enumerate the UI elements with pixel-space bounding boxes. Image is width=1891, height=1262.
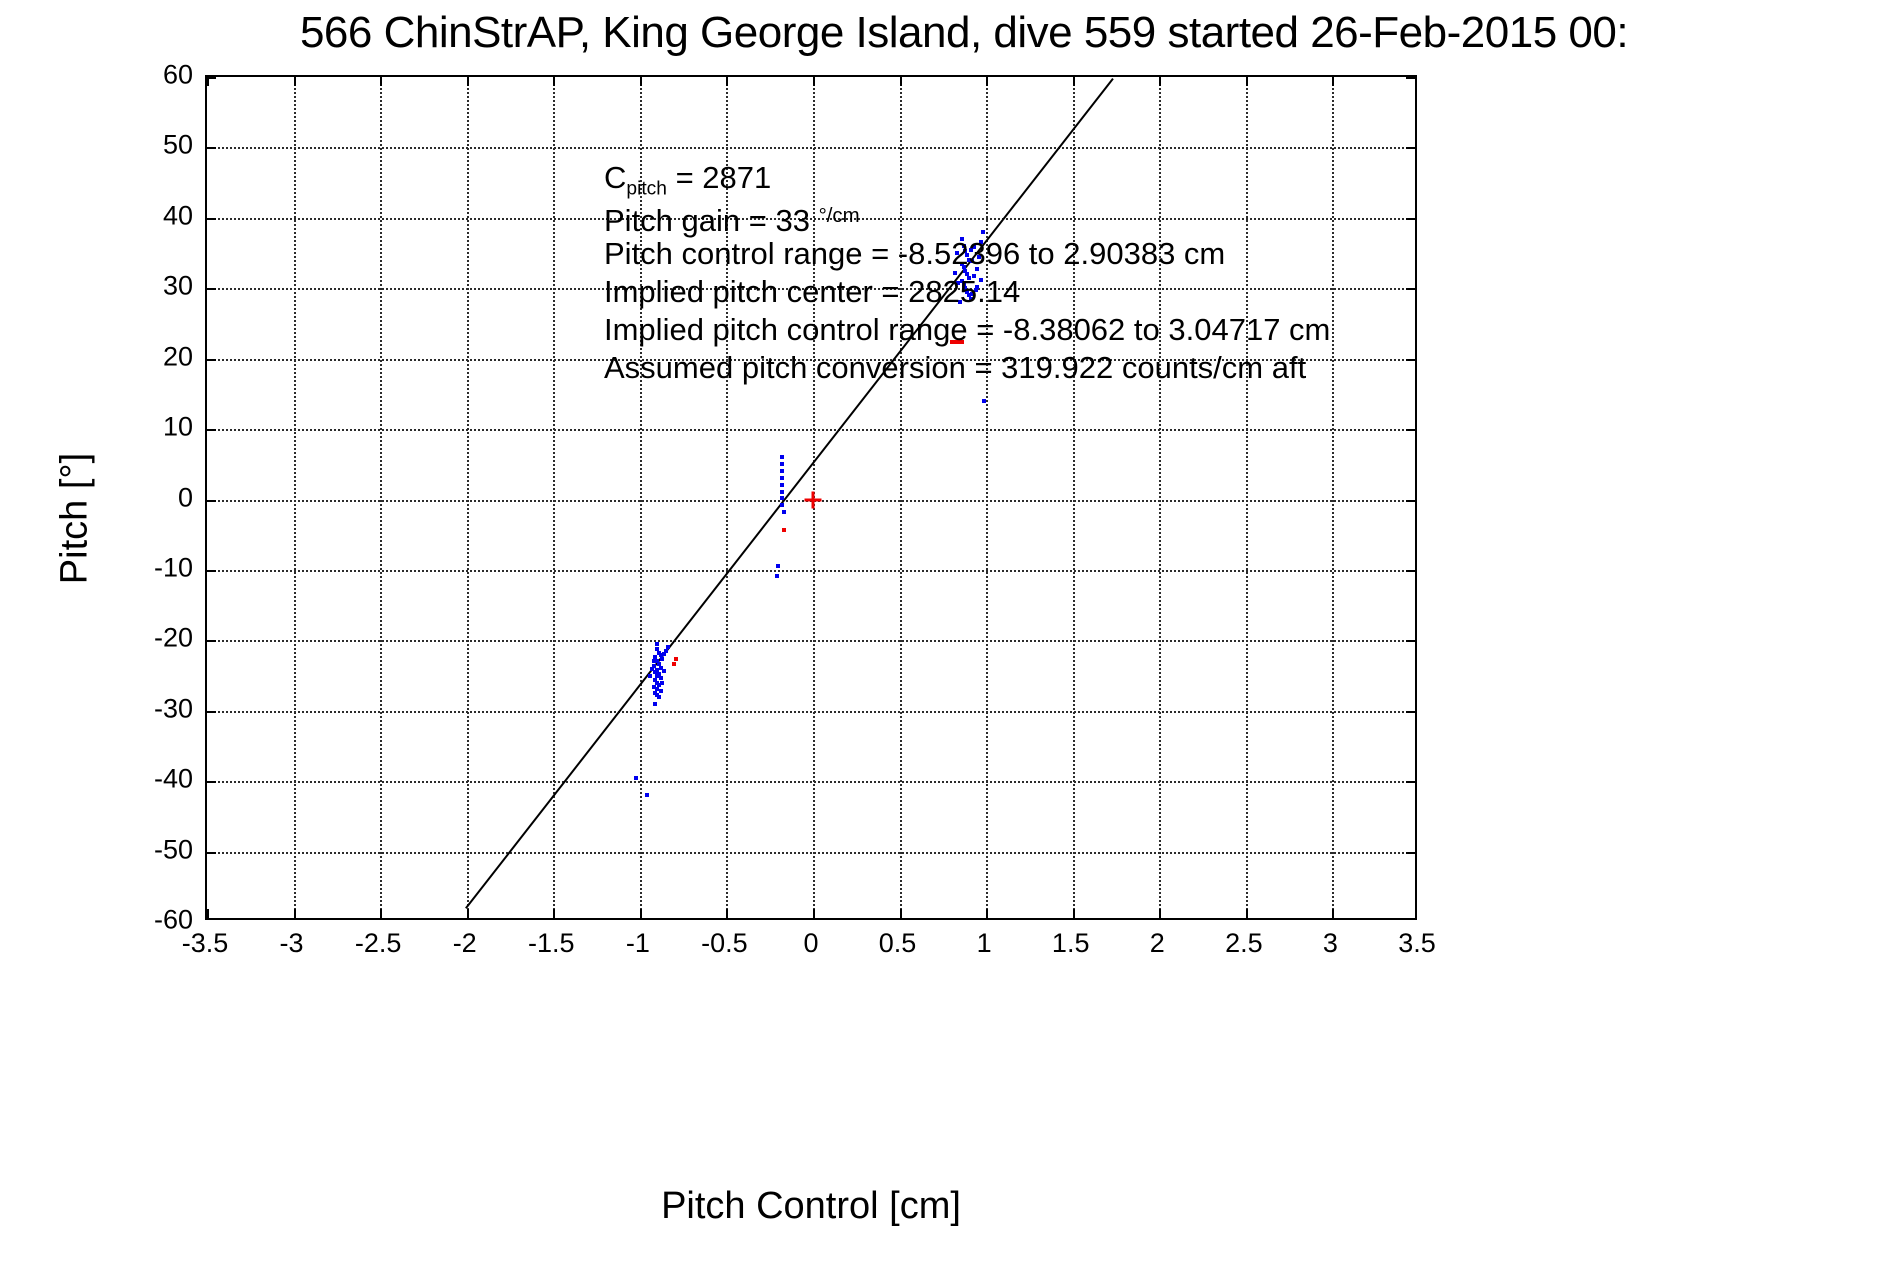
annotation-c-pitch: Cpitch = 2871 — [604, 159, 1330, 197]
x-tick-label: 2.5 — [1225, 928, 1263, 959]
data-point — [652, 659, 656, 663]
y-tick-label: -20 — [85, 623, 193, 654]
annotation-assumed-pitch-conversion: Assumed pitch conversion = 319.922 count… — [604, 349, 1330, 387]
y-tick-label: -50 — [85, 834, 193, 865]
data-point — [634, 776, 638, 780]
y-tick-label: -40 — [85, 764, 193, 795]
x-tick-label: 2 — [1150, 928, 1165, 959]
data-point — [648, 674, 652, 678]
x-tick-label: 0 — [803, 928, 818, 959]
data-point — [653, 702, 657, 706]
data-point — [780, 483, 784, 487]
data-point — [776, 564, 780, 568]
data-point — [782, 528, 786, 532]
annotation-pitch-control-range: Pitch control range = -8.52396 to 2.9038… — [604, 235, 1330, 273]
y-axis-title: Pitch [°] — [54, 259, 97, 779]
x-tick-label: -3 — [280, 928, 304, 959]
x-tick-label: 3 — [1323, 928, 1338, 959]
y-tick-label: 30 — [85, 271, 193, 302]
data-point — [782, 510, 786, 514]
data-point — [780, 462, 784, 466]
y-tick-label: 0 — [85, 482, 193, 513]
data-point — [650, 667, 654, 671]
x-axis-title: Pitch Control [cm] — [205, 1185, 1417, 1228]
data-point — [672, 662, 676, 666]
data-point — [780, 503, 784, 507]
data-point — [775, 574, 779, 578]
data-point — [780, 476, 784, 480]
plot-area: Cpitch = 2871 Pitch gain = 33 °/cm Pitch… — [205, 75, 1417, 920]
data-point — [662, 652, 666, 656]
annotation-text-block: Cpitch = 2871 Pitch gain = 33 °/cm Pitch… — [604, 159, 1330, 387]
x-tick-label: 0.5 — [879, 928, 917, 959]
data-point — [780, 455, 784, 459]
data-point — [655, 642, 659, 646]
y-tick-label: 10 — [85, 412, 193, 443]
pitch-gain-text: Pitch gain = 33 — [604, 203, 819, 238]
data-point — [674, 657, 678, 661]
x-tick-label: 3.5 — [1398, 928, 1436, 959]
data-point — [659, 689, 663, 693]
data-point — [780, 490, 784, 494]
y-tick-label: 40 — [85, 200, 193, 231]
x-tick-label: 1.5 — [1052, 928, 1090, 959]
pitch-gain-unit: °/cm — [819, 204, 860, 227]
y-tick-label: -10 — [85, 552, 193, 583]
c-pitch-symbol: C — [604, 160, 626, 195]
y-tick-label: 20 — [85, 341, 193, 372]
data-point — [660, 681, 664, 685]
data-point — [780, 469, 784, 473]
data-point — [780, 496, 784, 500]
data-point — [660, 657, 664, 661]
origin-cross-marker — [805, 491, 822, 508]
x-tick-label: -1 — [626, 928, 650, 959]
x-tick-label: -0.5 — [701, 928, 748, 959]
data-point — [662, 669, 666, 673]
y-tick-label: 60 — [85, 60, 193, 91]
x-tick-label: 1 — [977, 928, 992, 959]
annotation-pitch-gain: Pitch gain = 33 °/cm — [604, 197, 1330, 235]
data-point — [657, 695, 661, 699]
annotation-implied-pitch-control-range: Implied pitch control range = -8.38062 t… — [604, 311, 1330, 349]
x-tick-label: -1.5 — [528, 928, 575, 959]
data-point — [664, 649, 668, 653]
data-point — [645, 793, 649, 797]
figure-title: 566 ChinStrAP, King George Island, dive … — [0, 6, 1891, 60]
c-pitch-value: = 2871 — [667, 160, 771, 195]
x-tick-label: -2 — [453, 928, 477, 959]
y-tick-label: 50 — [85, 130, 193, 161]
data-point — [982, 399, 986, 403]
figure-root: 566 ChinStrAP, King George Island, dive … — [0, 0, 1891, 1262]
annotation-implied-pitch-center: Implied pitch center = 2825.14 — [604, 273, 1330, 311]
y-tick-label: -30 — [85, 693, 193, 724]
y-tick-label: -60 — [85, 905, 193, 936]
data-point — [666, 645, 670, 649]
x-tick-label: -2.5 — [355, 928, 402, 959]
